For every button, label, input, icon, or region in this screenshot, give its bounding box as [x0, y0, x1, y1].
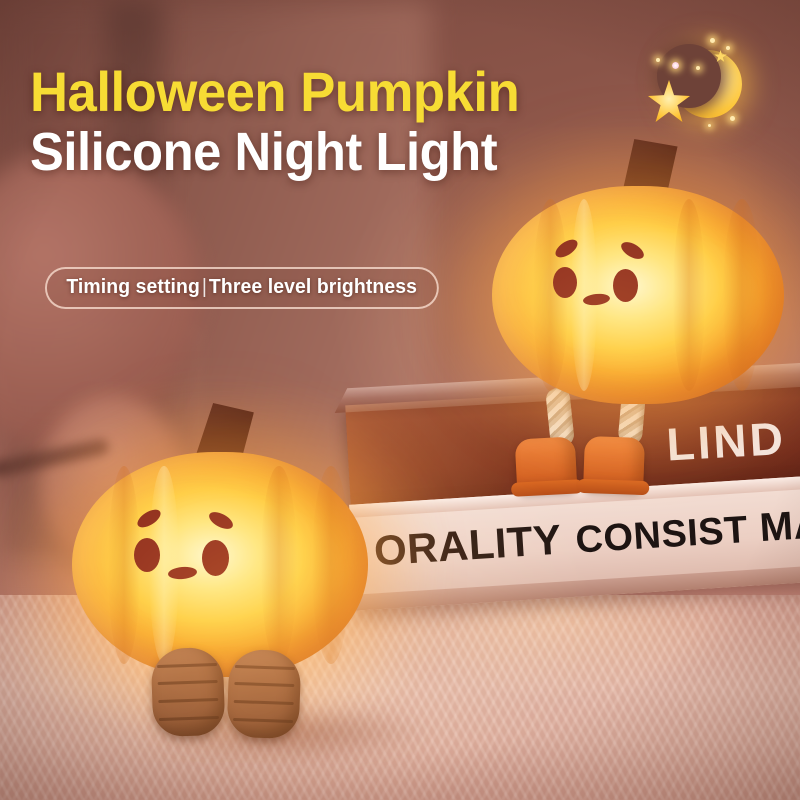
sparkle-icon	[696, 66, 700, 70]
book-white-word-3: MA	[758, 502, 800, 550]
sparkle-icon	[726, 46, 730, 50]
crescent-moon-icon	[674, 50, 742, 118]
pumpkin-foot-left	[150, 647, 225, 737]
feature-badge-right: Three level brightness	[209, 276, 417, 298]
sparkle-icon	[656, 58, 660, 62]
sparkle-icon	[672, 62, 679, 69]
book-white-word-1: ORALITY	[373, 516, 563, 575]
pumpkin-body	[72, 452, 368, 677]
headline-line-2: Silicone Night Light	[30, 124, 613, 181]
headline-block: Halloween Pumpkin Silicone Night Light	[30, 64, 650, 181]
pumpkin-foot-right	[226, 649, 301, 739]
pumpkin-night-light-back[interactable]	[492, 186, 784, 404]
sparkle-icon	[710, 38, 715, 43]
headline-line-1: Halloween Pumpkin	[30, 64, 613, 120]
boot-foot-right	[583, 436, 645, 492]
feature-badge-left: Timing setting	[66, 276, 200, 298]
sparkle-icon	[730, 116, 735, 121]
advertisement-scene: LIND ORALITYCONSISTMA	[0, 0, 800, 800]
moon-decoration	[638, 28, 762, 140]
pumpkin-body	[492, 186, 784, 404]
boot-foot-left	[515, 436, 578, 493]
feature-badge-separator: |	[202, 276, 207, 298]
feature-badge: Timing setting|Three level brightness	[45, 267, 438, 309]
sparkle-icon	[708, 124, 711, 127]
book-white-word-2: CONSIST	[574, 509, 749, 562]
pumpkin-night-light-front[interactable]	[72, 452, 368, 677]
